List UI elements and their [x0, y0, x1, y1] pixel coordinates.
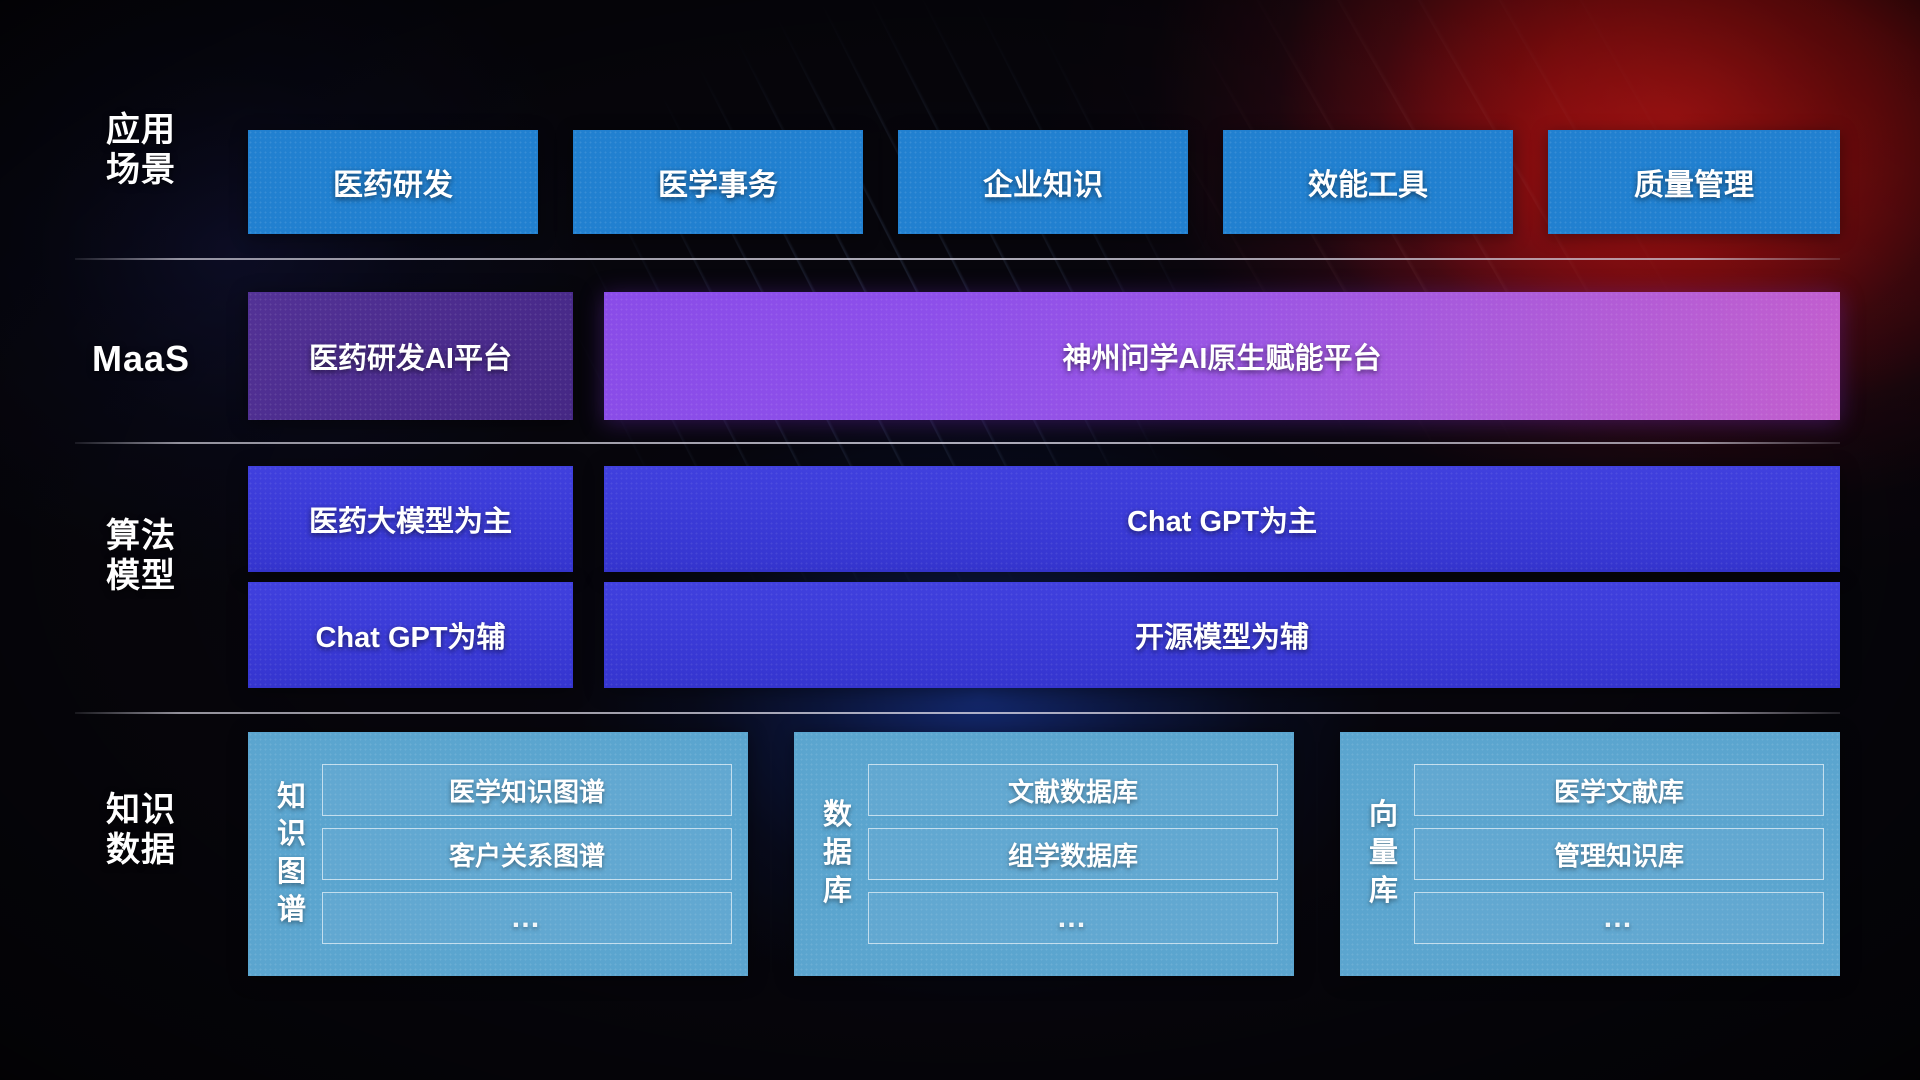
vlabel-char: 据 — [808, 835, 868, 873]
knowledge-group-database[interactable]: 数 据 库 文献数据库 组学数据库 … — [794, 732, 1294, 976]
tier-label-line: 模型 — [75, 556, 207, 596]
knowledge-group-vertical-label: 数 据 库 — [808, 797, 868, 910]
tier-label-line: 数据 — [75, 830, 207, 870]
architecture-diagram: 应用 场景 医药研发 医学事务 企业知识 效能工具 质量管理 MaaS 医药研发… — [0, 0, 1920, 1080]
knowledge-item[interactable]: 管理知识库 — [1414, 828, 1824, 880]
tier-label-maas: MaaS — [75, 338, 207, 380]
app-box-quality-management[interactable]: 质量管理 — [1548, 130, 1840, 234]
knowledge-item[interactable]: 客户关系图谱 — [322, 828, 732, 880]
algo-box-label: 开源模型为辅 — [1135, 614, 1309, 656]
knowledge-group-vertical-label: 向 量 库 — [1354, 797, 1414, 910]
knowledge-item-more[interactable]: … — [868, 892, 1278, 944]
algo-box-opensource-secondary[interactable]: 开源模型为辅 — [604, 582, 1840, 688]
knowledge-item[interactable]: 组学数据库 — [868, 828, 1278, 880]
knowledge-item[interactable]: 医学知识图谱 — [322, 764, 732, 816]
algo-box-chatgpt-secondary[interactable]: Chat GPT为辅 — [248, 582, 573, 688]
algo-box-pharma-llm-primary[interactable]: 医药大模型为主 — [248, 466, 573, 572]
tier-label-line: MaaS — [75, 338, 207, 380]
vlabel-char: 库 — [1354, 873, 1414, 911]
vlabel-char: 知 — [262, 779, 322, 817]
algo-box-chatgpt-primary[interactable]: Chat GPT为主 — [604, 466, 1840, 572]
knowledge-item[interactable]: 文献数据库 — [868, 764, 1278, 816]
divider-1 — [75, 258, 1840, 260]
knowledge-group-vector-store[interactable]: 向 量 库 医学文献库 管理知识库 … — [1340, 732, 1840, 976]
algo-box-label: 医药大模型为主 — [309, 498, 512, 540]
vlabel-char: 谱 — [262, 892, 322, 930]
algo-box-label: Chat GPT为主 — [1127, 498, 1317, 540]
app-box-label: 效能工具 — [1308, 160, 1428, 204]
knowledge-group-item-list: 医学文献库 管理知识库 … — [1414, 764, 1824, 944]
knowledge-group-item-list: 文献数据库 组学数据库 … — [868, 764, 1278, 944]
tier-label-line: 应用 — [75, 110, 207, 150]
knowledge-group-vertical-label: 知 识 图 谱 — [262, 779, 322, 930]
knowledge-group-knowledge-graph[interactable]: 知 识 图 谱 医学知识图谱 客户关系图谱 … — [248, 732, 748, 976]
tier-label-line: 算法 — [75, 516, 207, 556]
vlabel-char: 向 — [1354, 797, 1414, 835]
app-box-medical-affairs[interactable]: 医学事务 — [573, 130, 863, 234]
knowledge-item-more[interactable]: … — [322, 892, 732, 944]
vlabel-char: 识 — [262, 816, 322, 854]
divider-3 — [75, 712, 1840, 714]
tier-label-knowledge-data: 知识 数据 — [75, 790, 207, 870]
vlabel-char: 量 — [1354, 835, 1414, 873]
knowledge-item-more[interactable]: … — [1414, 892, 1824, 944]
knowledge-item[interactable]: 医学文献库 — [1414, 764, 1824, 816]
app-box-label: 医学事务 — [658, 160, 778, 204]
vlabel-char: 图 — [262, 854, 322, 892]
vlabel-char: 库 — [808, 873, 868, 911]
vlabel-char: 数 — [808, 797, 868, 835]
app-box-pharma-rd[interactable]: 医药研发 — [248, 130, 538, 234]
maas-box-shenzhou-wenxue-platform[interactable]: 神州问学AI原生赋能平台 — [604, 292, 1840, 420]
tier-label-algorithm-models: 算法 模型 — [75, 516, 207, 596]
app-box-label: 医药研发 — [333, 160, 453, 204]
app-box-label: 企业知识 — [983, 160, 1103, 204]
app-box-efficiency-tools[interactable]: 效能工具 — [1223, 130, 1513, 234]
divider-2 — [75, 442, 1840, 444]
app-box-enterprise-knowledge[interactable]: 企业知识 — [898, 130, 1188, 234]
knowledge-group-item-list: 医学知识图谱 客户关系图谱 … — [322, 764, 732, 944]
maas-box-pharma-ai-platform[interactable]: 医药研发AI平台 — [248, 292, 573, 420]
tier-label-line: 知识 — [75, 790, 207, 830]
maas-box-label: 神州问学AI原生赋能平台 — [1062, 335, 1381, 377]
tier-label-application-scenarios: 应用 场景 — [75, 110, 207, 190]
app-box-label: 质量管理 — [1634, 160, 1754, 204]
maas-box-label: 医药研发AI平台 — [309, 335, 512, 377]
tier-label-line: 场景 — [75, 150, 207, 190]
algo-box-label: Chat GPT为辅 — [315, 614, 505, 656]
